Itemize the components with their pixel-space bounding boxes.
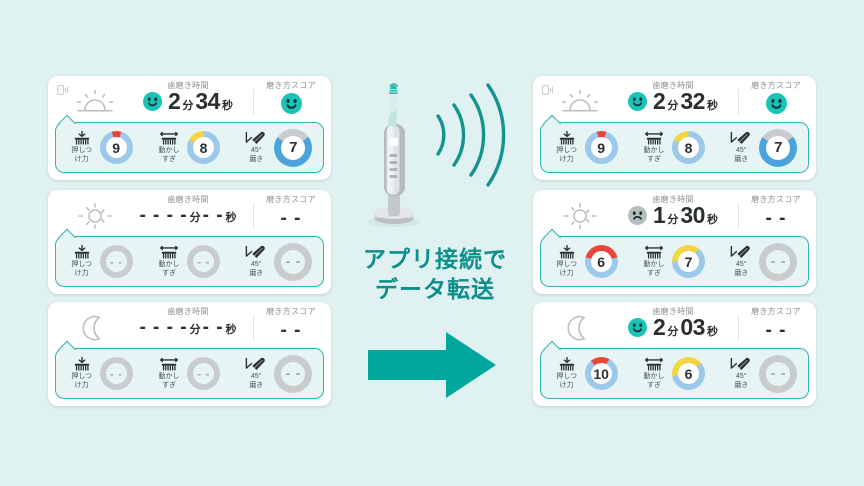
brush-angle-icon <box>245 357 267 372</box>
minutes-value: 1 <box>653 204 665 227</box>
time-of-day-icon <box>74 314 116 342</box>
brush-time-value: - - - - 分 - - 秒 <box>139 316 236 339</box>
minutes-value: 2 <box>653 90 665 113</box>
metric-label: 押しつけ力 <box>552 131 582 164</box>
gauge-value: 7 <box>766 136 790 160</box>
metric-label: 45°磨き <box>726 245 756 278</box>
gauge-value: 8 <box>193 137 214 158</box>
gauge-motion: 8 <box>187 131 220 164</box>
time-of-day-icon <box>74 88 116 116</box>
metric-angle: 45°磨き - - <box>241 243 312 281</box>
brush-press-icon <box>72 357 92 372</box>
score-value: - - <box>766 320 787 342</box>
gauge-angle: - - <box>759 243 797 281</box>
transfer-caption: アプリ接続で データ転送 <box>355 244 515 304</box>
brush-press-icon <box>72 245 92 260</box>
brush-press-icon <box>557 357 577 372</box>
gauge-value: 7 <box>678 251 699 272</box>
metrics-panel: 押しつけ力 9 動かしすぎ 8 45°磨き <box>55 122 324 173</box>
score-block: 磨き方スコア <box>740 78 812 124</box>
seconds-unit: 秒 <box>707 211 718 227</box>
brush-motion-icon <box>644 245 664 260</box>
infographic-canvas: 歯磨き時間 2 分 34 秒 磨き方スコア <box>0 0 864 486</box>
brush-angle-icon <box>245 131 267 146</box>
brush-time-block: 歯磨き時間 - - - - 分 - - 秒 <box>118 304 258 350</box>
brush-time-block: 歯磨き時間 2 分 32 秒 <box>603 78 743 124</box>
score-label: 磨き方スコア <box>751 307 801 317</box>
score-label: 磨き方スコア <box>751 195 801 205</box>
minutes-value: - - - - <box>139 316 187 339</box>
brush-press-icon <box>557 245 577 260</box>
metric-label: 動かしすぎ <box>639 131 669 164</box>
gauge-motion: 7 <box>672 245 705 278</box>
gauge-value: - - <box>281 250 305 274</box>
smile-face-icon <box>281 93 302 114</box>
brush-time-block: 歯磨き時間 2 分 03 秒 <box>603 304 743 350</box>
brush-angle-icon <box>730 357 752 372</box>
card-header: 歯磨き時間 2 分 03 秒 磨き方スコア - - <box>533 302 816 350</box>
time-of-day-icon <box>559 88 601 116</box>
smile-face-icon <box>628 318 647 337</box>
metric-label-text: 45°磨き <box>249 147 263 164</box>
gauge-pressure: - - <box>100 245 133 278</box>
metric-label-text: 押しつけ力 <box>556 373 577 390</box>
metric-label: 押しつけ力 <box>552 245 582 278</box>
metric-label-text: 押しつけ力 <box>71 261 92 278</box>
brush-press-icon <box>557 357 577 372</box>
metric-label: 動かしすぎ <box>639 357 669 390</box>
seconds-unit: 秒 <box>707 97 718 113</box>
panel-notch <box>541 228 563 238</box>
gauge-motion: - - <box>187 357 220 390</box>
mobile-device-icon <box>57 85 69 95</box>
gauge-motion: 6 <box>672 357 705 390</box>
gauge-value: 7 <box>281 136 305 160</box>
metric-label: 動かしすぎ <box>639 245 669 278</box>
gauge-value: 6 <box>678 363 699 384</box>
metric-label-text: 動かしすぎ <box>643 261 664 278</box>
brush-motion-icon <box>159 131 179 146</box>
metric-pressure: 押しつけ力 9 <box>67 131 133 164</box>
brush-press-icon <box>557 131 577 146</box>
mobile-device-icon <box>542 82 554 92</box>
gauge-angle: - - <box>274 243 312 281</box>
frown-face-icon <box>628 206 647 225</box>
time-of-day-icon <box>559 314 601 342</box>
metric-label-text: 押しつけ力 <box>556 261 577 278</box>
score-block: 磨き方スコア - - <box>740 192 812 238</box>
gauge-motion: - - <box>187 245 220 278</box>
metric-label: 押しつけ力 <box>67 131 97 164</box>
brush-motion-icon <box>644 131 664 146</box>
brush-motion-icon <box>159 245 179 260</box>
metric-angle: 45°磨き - - <box>726 243 797 281</box>
score-value: - - <box>281 320 302 342</box>
metric-pressure: 押しつけ力 - - <box>67 245 133 278</box>
seconds-value: - - <box>203 316 224 339</box>
gauge-value: - - <box>106 363 127 384</box>
brush-motion-icon <box>159 357 179 372</box>
gauge-pressure: 6 <box>585 245 618 278</box>
score-face <box>281 93 302 114</box>
smile-face-icon <box>143 92 162 111</box>
brush-press-icon <box>557 245 577 260</box>
metric-label: 動かしすぎ <box>154 357 184 390</box>
seconds-value: 34 <box>195 90 220 113</box>
minutes-unit: 分 <box>190 209 201 225</box>
gauge-motion: 8 <box>672 131 705 164</box>
brush-angle-icon <box>730 357 752 372</box>
brushing-session-card-right-day[interactable]: 歯磨き時間 1 分 30 秒 磨き方スコア - - <box>533 190 816 294</box>
brush-time-block: 歯磨き時間 - - - - 分 - - 秒 <box>118 192 258 238</box>
metrics-panel: 押しつけ力 10 動かしすぎ 6 45°磨き <box>540 348 809 399</box>
panel-notch <box>541 340 563 350</box>
brush-angle-icon <box>245 131 267 146</box>
card-header: 歯磨き時間 2 分 34 秒 磨き方スコア <box>48 76 331 124</box>
metric-motion: 動かしすぎ 6 <box>639 357 705 390</box>
seconds-unit: 秒 <box>226 321 237 337</box>
transfer-caption-line2: データ転送 <box>355 274 515 304</box>
card-header: 歯磨き時間 2 分 32 秒 磨き方スコア <box>533 76 816 124</box>
metric-label-text: 動かしすぎ <box>158 261 179 278</box>
score-block: 磨き方スコア <box>255 78 327 124</box>
seconds-value: - - <box>203 204 224 227</box>
gauge-pressure: - - <box>100 357 133 390</box>
metric-motion: 動かしすぎ - - <box>154 245 220 278</box>
brush-press-icon <box>72 131 92 146</box>
brush-time-block: 歯磨き時間 2 分 34 秒 <box>118 78 258 124</box>
card-header: 歯磨き時間 - - - - 分 - - 秒 磨き方スコア - - <box>48 190 331 238</box>
gauge-value: - - <box>766 362 790 386</box>
metric-label-text: 45°磨き <box>734 261 748 278</box>
minutes-unit: 分 <box>190 321 201 337</box>
metric-label-text: 45°磨き <box>734 147 748 164</box>
gauge-pressure: 9 <box>585 131 618 164</box>
metric-label-text: 45°磨き <box>249 261 263 278</box>
metric-motion: 動かしすぎ - - <box>154 357 220 390</box>
minutes-value: - - - - <box>139 204 187 227</box>
brush-press-icon <box>557 131 577 146</box>
wireless-signal-waves <box>432 80 516 190</box>
seconds-value: 32 <box>680 90 705 113</box>
moon-icon <box>74 314 116 342</box>
metric-angle: 45°磨き 7 <box>726 129 797 167</box>
metric-angle: 45°磨き - - <box>726 355 797 393</box>
metric-label-text: 45°磨き <box>249 373 263 390</box>
time-of-day-icon <box>74 202 116 230</box>
brush-press-icon <box>72 131 92 146</box>
brush-time-value: - - - - 分 - - 秒 <box>139 204 236 227</box>
gauge-angle: - - <box>759 355 797 393</box>
brushing-session-card-left-night[interactable]: 歯磨き時間 - - - - 分 - - 秒 磨き方スコア - - <box>48 302 331 406</box>
transfer-caption-line1: アプリ接続で <box>355 244 515 274</box>
gauge-angle: 7 <box>759 129 797 167</box>
moon-icon <box>559 314 601 342</box>
minutes-unit: 分 <box>182 97 193 113</box>
brushing-session-card-left-day[interactable]: 歯磨き時間 - - - - 分 - - 秒 磨き方スコア - - <box>48 190 331 294</box>
metric-label-text: 動かしすぎ <box>158 147 179 164</box>
metric-motion: 動かしすぎ 7 <box>639 245 705 278</box>
metric-label: 動かしすぎ <box>154 245 184 278</box>
metric-label-text: 動かしすぎ <box>643 373 664 390</box>
score-label: 磨き方スコア <box>266 81 316 91</box>
brushing-session-card-right-night[interactable]: 歯磨き時間 2 分 03 秒 磨き方スコア - - <box>533 302 816 406</box>
gauge-angle: 7 <box>274 129 312 167</box>
score-block: 磨き方スコア - - <box>740 304 812 350</box>
time-face-icon <box>628 92 647 111</box>
brush-angle-icon <box>730 131 752 146</box>
seconds-unit: 秒 <box>707 323 718 339</box>
metric-label-text: 押しつけ力 <box>71 373 92 390</box>
metric-label: 押しつけ力 <box>552 357 582 390</box>
gauge-value: 6 <box>591 251 612 272</box>
gauge-value: - - <box>106 251 127 272</box>
metric-label-text: 45°磨き <box>734 373 748 390</box>
brushing-session-card-left-morning[interactable]: 歯磨き時間 2 分 34 秒 磨き方スコア <box>48 76 331 180</box>
metric-label-text: 動かしすぎ <box>158 373 179 390</box>
brush-press-icon <box>72 357 92 372</box>
brush-time-value: 2 分 34 秒 <box>143 90 233 113</box>
transfer-arrow <box>368 332 496 398</box>
electric-toothbrush <box>360 72 430 232</box>
metrics-panel: 押しつけ力 - - 動かしすぎ - - <box>55 236 324 287</box>
metric-label-text: 押しつけ力 <box>71 147 92 164</box>
brush-angle-icon <box>245 245 267 260</box>
smile-face-icon <box>766 93 787 114</box>
gauge-angle: - - <box>274 355 312 393</box>
card-header: 歯磨き時間 1 分 30 秒 磨き方スコア - - <box>533 190 816 238</box>
sunrise-icon <box>74 88 116 116</box>
score-face <box>766 93 787 114</box>
seconds-value: 03 <box>680 316 705 339</box>
metric-label: 45°磨き <box>241 245 271 278</box>
minutes-value: 2 <box>168 90 180 113</box>
sun-icon <box>559 202 601 230</box>
brush-angle-icon <box>245 245 267 260</box>
gauge-value: 8 <box>678 137 699 158</box>
panel-notch <box>56 340 78 350</box>
metric-pressure: 押しつけ力 9 <box>552 131 618 164</box>
brush-time-value: 2 分 03 秒 <box>628 316 718 339</box>
score-block: 磨き方スコア - - <box>255 192 327 238</box>
score-value: - - <box>281 208 302 230</box>
panel-notch <box>56 114 78 124</box>
brush-motion-icon <box>159 245 179 260</box>
brush-motion-icon <box>159 357 179 372</box>
brush-time-value: 1 分 30 秒 <box>628 204 718 227</box>
metric-pressure: 押しつけ力 6 <box>552 245 618 278</box>
metric-angle: 45°磨き - - <box>241 355 312 393</box>
metric-angle: 45°磨き 7 <box>241 129 312 167</box>
panel-notch <box>56 228 78 238</box>
metric-motion: 動かしすぎ 8 <box>639 131 705 164</box>
gauge-value: - - <box>193 363 214 384</box>
gauge-value: 10 <box>591 363 612 384</box>
score-label: 磨き方スコア <box>266 195 316 205</box>
panel-notch <box>541 114 563 124</box>
card-header: 歯磨き時間 - - - - 分 - - 秒 磨き方スコア - - <box>48 302 331 350</box>
metric-label: 45°磨き <box>241 131 271 164</box>
metric-label-text: 押しつけ力 <box>556 147 577 164</box>
minutes-unit: 分 <box>667 211 678 227</box>
brush-time-block: 歯磨き時間 1 分 30 秒 <box>603 192 743 238</box>
metrics-panel: 押しつけ力 9 動かしすぎ 8 45°磨き <box>540 122 809 173</box>
brush-motion-icon <box>644 245 664 260</box>
brush-angle-icon <box>730 131 752 146</box>
sunrise-icon <box>559 88 601 116</box>
metric-label-text: 動かしすぎ <box>643 147 664 164</box>
score-block: 磨き方スコア - - <box>255 304 327 350</box>
score-label: 磨き方スコア <box>266 307 316 317</box>
metric-label: 押しつけ力 <box>67 245 97 278</box>
smile-face-icon <box>628 92 647 111</box>
gauge-value: - - <box>766 250 790 274</box>
metric-label: 動かしすぎ <box>154 131 184 164</box>
metric-label: 45°磨き <box>241 357 271 390</box>
gauge-value: - - <box>281 362 305 386</box>
brush-press-icon <box>72 245 92 260</box>
brush-motion-icon <box>644 131 664 146</box>
seconds-unit: 秒 <box>222 97 233 113</box>
seconds-unit: 秒 <box>226 209 237 225</box>
score-label: 磨き方スコア <box>751 81 801 91</box>
brush-motion-icon <box>644 357 664 372</box>
minutes-unit: 分 <box>667 97 678 113</box>
sun-icon <box>74 202 116 230</box>
score-value: - - <box>766 208 787 230</box>
gauge-pressure: 9 <box>100 131 133 164</box>
metric-label: 45°磨き <box>726 357 756 390</box>
metric-label: 45°磨き <box>726 131 756 164</box>
time-of-day-icon <box>559 202 601 230</box>
metric-pressure: 押しつけ力 - - <box>67 357 133 390</box>
metrics-panel: 押しつけ力 - - 動かしすぎ - - <box>55 348 324 399</box>
brush-angle-icon <box>245 357 267 372</box>
brush-angle-icon <box>730 245 752 260</box>
brush-time-value: 2 分 32 秒 <box>628 90 718 113</box>
time-face-icon <box>143 92 162 111</box>
brush-motion-icon <box>644 357 664 372</box>
seconds-value: 30 <box>680 204 705 227</box>
metrics-panel: 押しつけ力 6 動かしすぎ 7 45°磨き <box>540 236 809 287</box>
metric-motion: 動かしすぎ 8 <box>154 131 220 164</box>
gauge-pressure: 10 <box>585 357 618 390</box>
mobile-device-icon <box>57 82 69 92</box>
minutes-value: 2 <box>653 316 665 339</box>
brush-angle-icon <box>730 245 752 260</box>
brushing-session-card-right-morning[interactable]: 歯磨き時間 2 分 32 秒 磨き方スコア <box>533 76 816 180</box>
time-face-icon <box>628 206 647 225</box>
brush-motion-icon <box>159 131 179 146</box>
gauge-value: 9 <box>106 137 127 158</box>
gauge-value: - - <box>193 251 214 272</box>
minutes-unit: 分 <box>667 323 678 339</box>
gauge-value: 9 <box>591 137 612 158</box>
mobile-device-icon <box>542 85 554 95</box>
time-face-icon <box>628 318 647 337</box>
metric-pressure: 押しつけ力 10 <box>552 357 618 390</box>
metric-label: 押しつけ力 <box>67 357 97 390</box>
